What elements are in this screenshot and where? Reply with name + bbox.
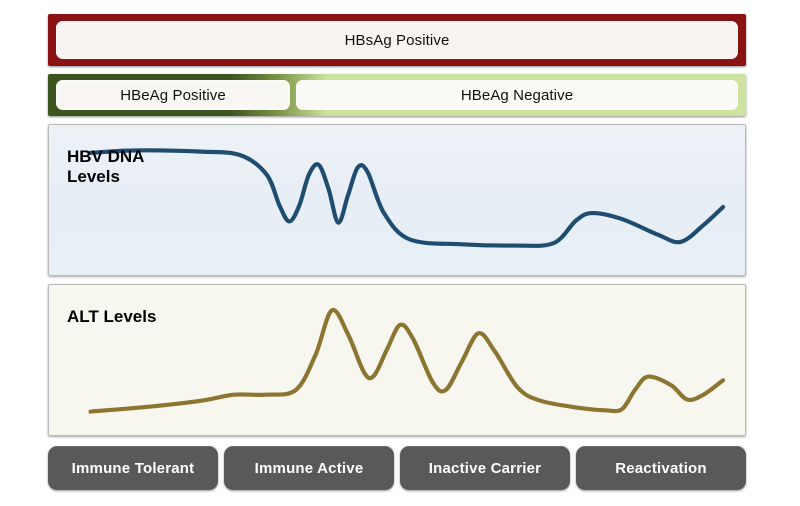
phase-legend: Immune Tolerant Immune Active Inactive C… — [48, 446, 746, 490]
hbsag-positive-label: HBsAg Positive — [56, 21, 738, 59]
hbv-dna-levels-panel: HBV DNA Levels — [48, 124, 746, 276]
hbv-dna-levels-label: HBV DNA Levels — [67, 147, 144, 187]
hbeag-negative-label: HBeAg Negative — [296, 80, 738, 110]
phase-immune-tolerant[interactable]: Immune Tolerant — [48, 446, 218, 490]
hbeag-status-bar: HBeAg Positive HBeAg Negative — [48, 74, 746, 116]
alt-levels-panel: ALT Levels — [48, 284, 746, 436]
hbv-dna-curve — [49, 125, 745, 275]
phase-reactivation[interactable]: Reactivation — [576, 446, 746, 490]
phase-inactive-carrier[interactable]: Inactive Carrier — [400, 446, 570, 490]
hbsag-status-bar: HBsAg Positive — [48, 14, 746, 66]
hbeag-positive-label: HBeAg Positive — [56, 80, 290, 110]
hbv-natural-history-diagram: HBsAg Positive HBeAg Positive HBeAg Nega… — [0, 0, 800, 506]
phase-immune-active[interactable]: Immune Active — [224, 446, 394, 490]
alt-levels-label: ALT Levels — [67, 307, 156, 327]
